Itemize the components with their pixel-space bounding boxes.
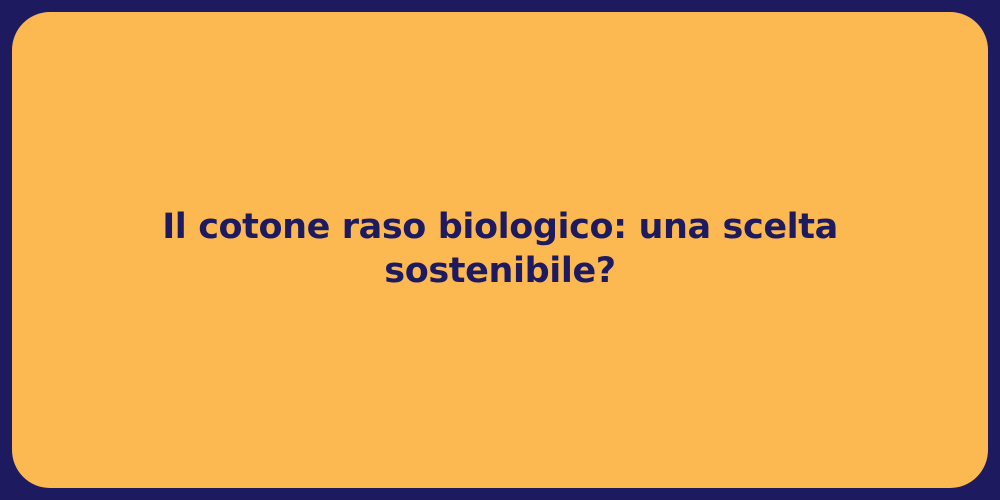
card-panel: Il cotone raso biologico: una scelta sos… <box>12 12 988 488</box>
card-headline: Il cotone raso biologico: una scelta sos… <box>12 206 988 294</box>
card-outer-frame: Il cotone raso biologico: una scelta sos… <box>0 0 1000 500</box>
